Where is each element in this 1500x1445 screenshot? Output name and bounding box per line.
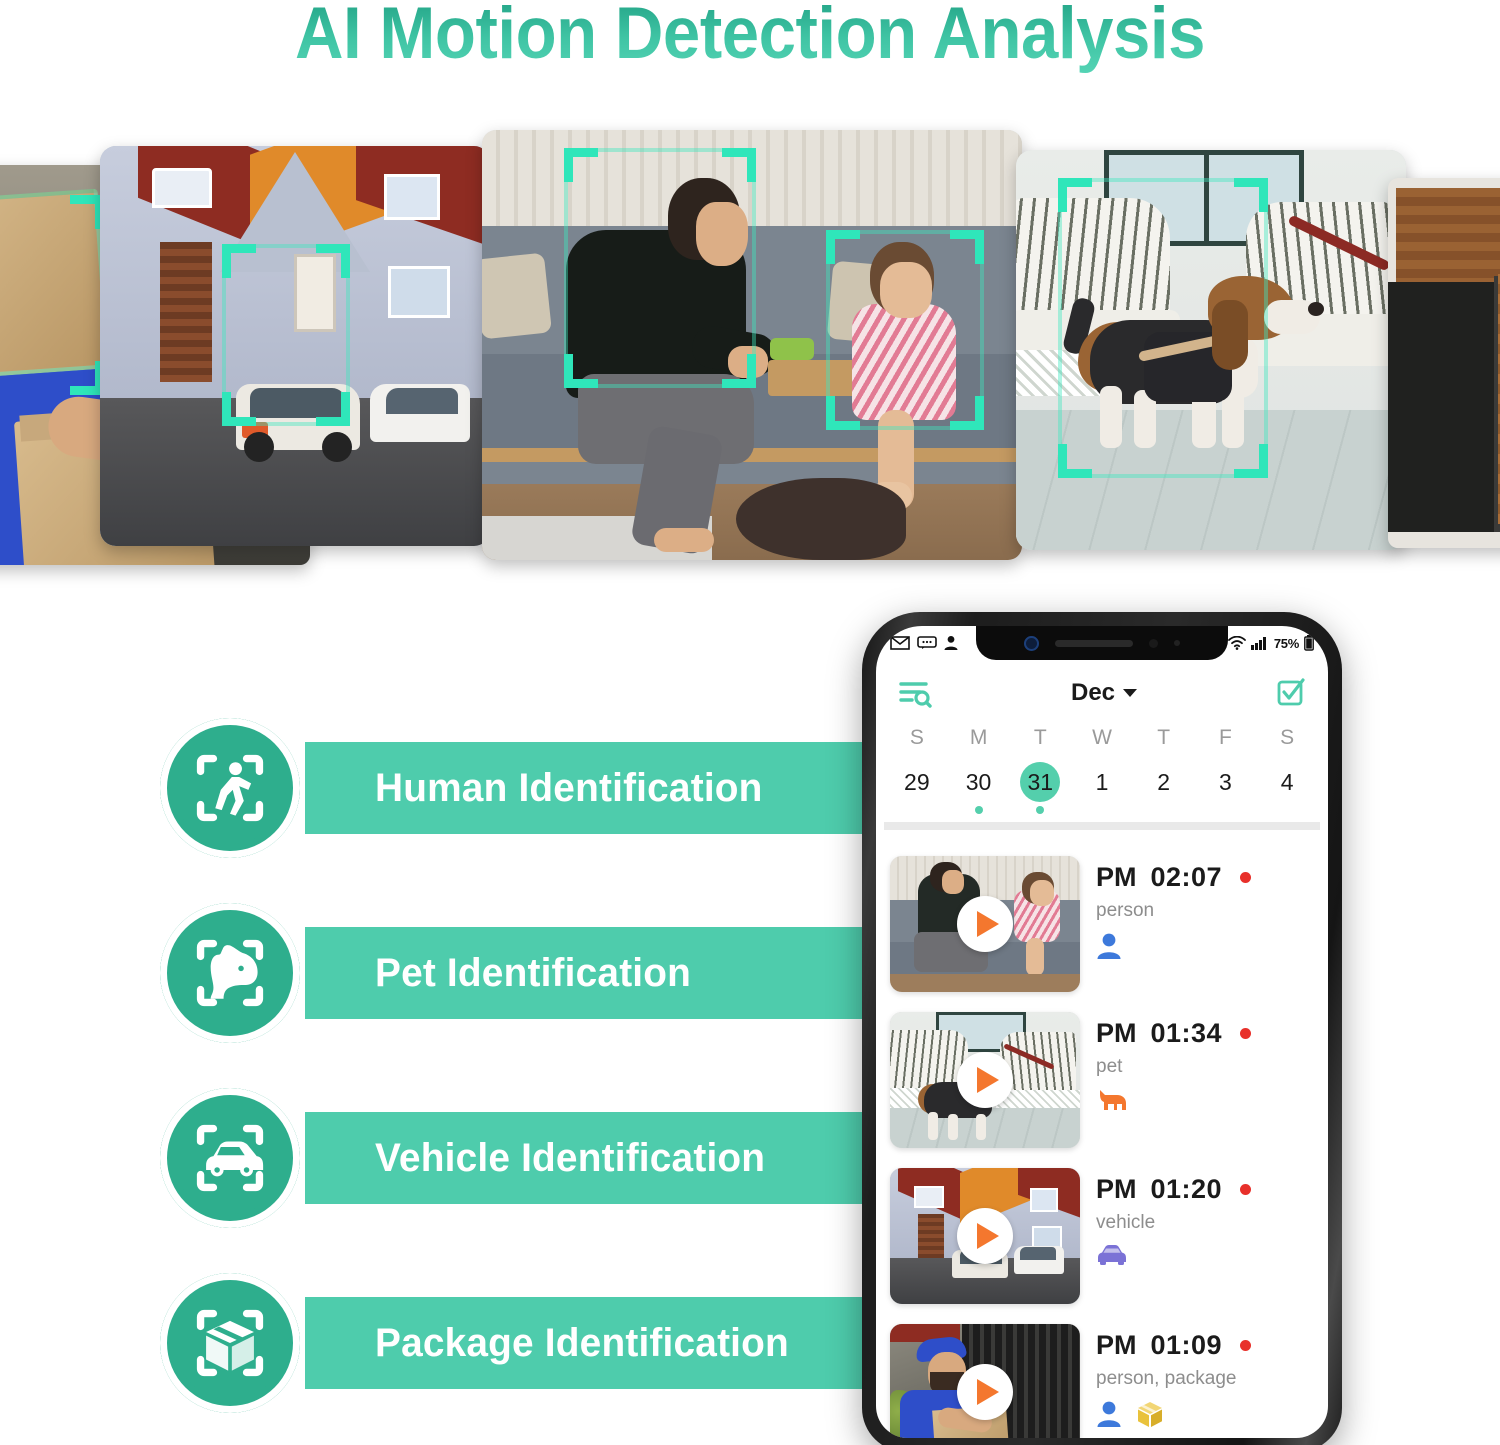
event-ampm: PM bbox=[1096, 1174, 1137, 1205]
checkbox-check-icon[interactable] bbox=[1276, 678, 1306, 708]
package-thumb[interactable] bbox=[890, 1324, 1080, 1438]
calendar-day-number: 4 bbox=[1267, 762, 1307, 802]
weekday-label: W bbox=[1071, 726, 1133, 750]
calendar-weekday-row: S M T W T F S bbox=[876, 726, 1328, 750]
unread-indicator bbox=[1240, 1340, 1251, 1351]
phone-screen: 75% Dec bbox=[876, 626, 1328, 1438]
gate-photo bbox=[1388, 178, 1500, 548]
ambient-light-sensor-icon bbox=[1174, 640, 1180, 646]
event-time: 01:34 bbox=[1151, 1018, 1223, 1049]
event-list: PM 02:07 person bbox=[876, 842, 1328, 1438]
unread-indicator bbox=[1240, 872, 1251, 883]
phone-notch bbox=[976, 626, 1228, 660]
person-icon bbox=[1096, 1400, 1122, 1428]
event-tags: vehicle bbox=[1096, 1212, 1314, 1234]
chevron-down-icon bbox=[1123, 689, 1137, 697]
month-label: Dec bbox=[1071, 679, 1115, 707]
weekday-label: S bbox=[1256, 726, 1318, 750]
calendar-day[interactable]: 30 bbox=[948, 762, 1010, 814]
section-divider bbox=[884, 822, 1320, 830]
cellular-signal-icon bbox=[1251, 636, 1269, 650]
month-selector[interactable]: Dec bbox=[932, 679, 1276, 707]
pet-icon bbox=[1096, 1088, 1128, 1114]
event-time: 02:07 bbox=[1151, 862, 1223, 893]
package-icon bbox=[1136, 1400, 1164, 1428]
event-time: 01:20 bbox=[1151, 1174, 1223, 1205]
weekday-label: S bbox=[886, 726, 948, 750]
event-tags: person bbox=[1096, 900, 1314, 922]
event-list-item[interactable]: PM 01:34 pet bbox=[890, 1012, 1314, 1148]
feature-label: Vehicle Identification bbox=[375, 1112, 765, 1204]
event-tags: pet bbox=[1096, 1056, 1314, 1078]
calendar-day[interactable]: 29 bbox=[886, 762, 948, 814]
feature-vehicle-identification[interactable]: Vehicle Identification bbox=[160, 1088, 900, 1228]
unread-indicator bbox=[1240, 1028, 1251, 1039]
calendar-date-row: 29 30 31 1 2 bbox=[876, 762, 1328, 814]
contact-icon bbox=[944, 635, 958, 651]
vehicle-detect-icon bbox=[160, 1088, 300, 1228]
battery-percent-label: 75% bbox=[1274, 636, 1299, 651]
feature-label: Human Identification bbox=[375, 742, 763, 834]
calendar-day[interactable]: 1 bbox=[1071, 762, 1133, 814]
message-icon bbox=[917, 636, 937, 650]
event-time: 01:09 bbox=[1151, 1330, 1223, 1361]
calendar-day-number: 2 bbox=[1144, 762, 1184, 802]
unread-indicator bbox=[1240, 1184, 1251, 1195]
app-bar: Dec bbox=[876, 666, 1328, 720]
event-ampm: PM bbox=[1096, 1330, 1137, 1361]
calendar-day[interactable]: 2 bbox=[1133, 762, 1195, 814]
feature-label: Package Identification bbox=[375, 1297, 789, 1389]
house-driveway-photo bbox=[100, 146, 490, 546]
event-tags: person, package bbox=[1096, 1368, 1314, 1390]
weekday-label: M bbox=[948, 726, 1010, 750]
feature-human-identification[interactable]: Human Identification bbox=[160, 718, 900, 858]
human-detect-icon bbox=[160, 718, 300, 858]
living-room-thumb[interactable] bbox=[890, 856, 1080, 992]
phone-mockup: 75% Dec bbox=[862, 612, 1342, 1445]
living-room-photo bbox=[482, 130, 1022, 560]
event-ampm: PM bbox=[1096, 1018, 1137, 1049]
feature-label: Pet Identification bbox=[375, 927, 691, 1019]
page-title: AI Motion Detection Analysis bbox=[60, 0, 1440, 75]
calendar-day-number: 1 bbox=[1082, 762, 1122, 802]
mail-icon bbox=[890, 636, 910, 650]
photo-strip bbox=[0, 130, 1500, 560]
earpiece-speaker bbox=[1055, 640, 1133, 647]
feature-list: Human Identification Pet Identification bbox=[160, 718, 900, 1445]
calendar-day[interactable]: 4 bbox=[1256, 762, 1318, 814]
play-button[interactable] bbox=[957, 1364, 1013, 1420]
pet-detect-icon bbox=[160, 903, 300, 1043]
event-dot bbox=[975, 806, 983, 814]
proximity-sensor-icon bbox=[1149, 639, 1158, 648]
pet-thumb[interactable] bbox=[890, 1012, 1080, 1148]
house-thumb[interactable] bbox=[890, 1168, 1080, 1304]
dog-indoor-photo bbox=[1016, 150, 1406, 550]
feature-pet-identification[interactable]: Pet Identification bbox=[160, 903, 900, 1043]
package-detect-icon bbox=[160, 1273, 300, 1413]
play-button[interactable] bbox=[957, 896, 1013, 952]
play-button[interactable] bbox=[957, 1052, 1013, 1108]
calendar-day-number: 30 bbox=[959, 762, 999, 802]
battery-icon bbox=[1304, 635, 1314, 651]
event-list-item[interactable]: PM 01:20 vehicle bbox=[890, 1168, 1314, 1304]
calendar-day-number: 29 bbox=[897, 762, 937, 802]
event-list-item[interactable]: PM 01:09 person, package bbox=[890, 1324, 1314, 1438]
person-icon bbox=[1096, 932, 1122, 960]
weekday-label: T bbox=[1133, 726, 1195, 750]
event-dot bbox=[1036, 806, 1044, 814]
event-list-item[interactable]: PM 02:07 person bbox=[890, 856, 1314, 992]
calendar-day-number: 31 bbox=[1020, 762, 1060, 802]
front-camera-icon bbox=[1024, 636, 1039, 651]
play-button[interactable] bbox=[957, 1208, 1013, 1264]
event-ampm: PM bbox=[1096, 862, 1137, 893]
weekday-label: F bbox=[1195, 726, 1257, 750]
feature-package-identification[interactable]: Package Identification bbox=[160, 1273, 900, 1413]
weekday-label: T bbox=[1009, 726, 1071, 750]
calendar-day[interactable]: 3 bbox=[1195, 762, 1257, 814]
vehicle-icon bbox=[1096, 1244, 1128, 1266]
wifi-icon bbox=[1228, 636, 1246, 650]
calendar-day-number: 3 bbox=[1205, 762, 1245, 802]
filter-search-icon[interactable] bbox=[898, 678, 932, 708]
calendar-day-selected[interactable]: 31 bbox=[1009, 762, 1071, 814]
